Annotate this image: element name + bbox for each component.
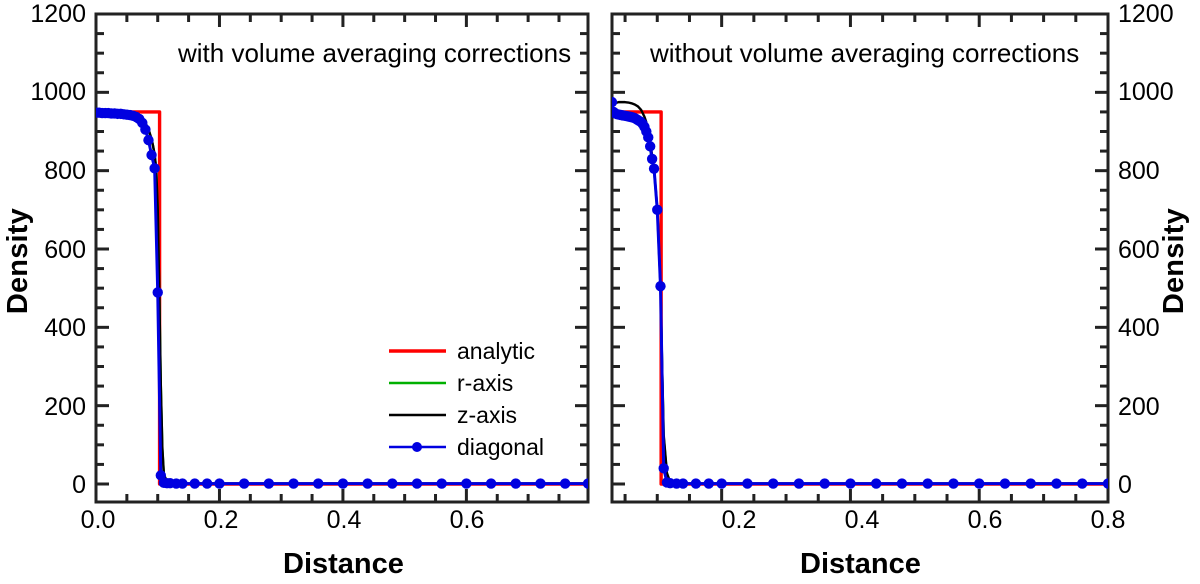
series-line-diagonal (96, 113, 588, 484)
series-marker-diagonal (1051, 478, 1061, 488)
plot-frame-right (612, 14, 1108, 502)
tick-marks-left (96, 14, 588, 502)
series-line-diagonal (612, 102, 1108, 483)
series-marker-diagonal (678, 478, 688, 488)
series-marker-diagonal (486, 478, 496, 488)
series-marker-diagonal (412, 478, 422, 488)
series-marker-diagonal (437, 478, 447, 488)
series-marker-diagonal (149, 163, 159, 173)
series-marker-diagonal (655, 281, 665, 291)
series-line-r-axis (612, 114, 1108, 484)
series-marker-diagonal (1103, 478, 1113, 488)
series-marker-diagonal (511, 478, 521, 488)
series-marker-diagonal (691, 478, 701, 488)
series-marker-diagonal (897, 478, 907, 488)
series-marker-diagonal (923, 478, 933, 488)
series-marker-diagonal (1077, 478, 1087, 488)
series-marker-diagonal (153, 287, 163, 297)
series-line-z-axis (96, 113, 588, 484)
plot-frame-left (96, 14, 588, 502)
series-marker-diagonal (338, 478, 348, 488)
series-marker-diagonal (845, 478, 855, 488)
series-marker-diagonal (794, 478, 804, 488)
series-line-analytic (96, 112, 588, 484)
series-line-r-axis (96, 113, 588, 484)
series-marker-diagonal (535, 478, 545, 488)
series-marker-diagonal (652, 205, 662, 215)
series-marker-diagonal (190, 478, 200, 488)
data-series-right (607, 97, 1113, 489)
series-marker-diagonal (1000, 478, 1010, 488)
series-marker-diagonal (143, 135, 153, 145)
series-marker-diagonal (239, 478, 249, 488)
series-marker-diagonal (649, 164, 659, 174)
series-marker-diagonal (146, 150, 156, 160)
series-marker-diagonal (177, 478, 187, 488)
series-marker-diagonal (607, 97, 617, 107)
plot-canvas (0, 0, 1200, 584)
series-marker-diagonal (461, 478, 471, 488)
legend-marker-diagonal (412, 442, 422, 452)
figure-root: Density Density Distance Distance with v… (0, 0, 1200, 584)
series-marker-diagonal (742, 478, 752, 488)
series-line-analytic (612, 112, 1108, 484)
series-marker-diagonal (659, 463, 669, 473)
series-marker-diagonal (645, 141, 655, 151)
series-marker-diagonal (974, 478, 984, 488)
series-marker-diagonal (583, 478, 593, 488)
series-marker-diagonal (768, 478, 778, 488)
series-marker-diagonal (140, 124, 150, 134)
series-marker-diagonal (214, 478, 224, 488)
series-line-z-axis (612, 102, 1108, 483)
series-marker-diagonal (643, 132, 653, 142)
legend-box (389, 351, 446, 452)
series-marker-diagonal (202, 478, 212, 488)
series-marker-diagonal (288, 478, 298, 488)
series-marker-diagonal (716, 478, 726, 488)
series-marker-diagonal (871, 478, 881, 488)
data-series-left (91, 108, 593, 489)
series-marker-diagonal (313, 478, 323, 488)
series-marker-diagonal (1026, 478, 1036, 488)
series-marker-diagonal (819, 478, 829, 488)
series-marker-diagonal (704, 478, 714, 488)
tick-marks-right (612, 14, 1108, 502)
series-marker-diagonal (387, 478, 397, 488)
series-marker-diagonal (362, 478, 372, 488)
series-marker-diagonal (647, 154, 657, 164)
series-marker-diagonal (264, 478, 274, 488)
series-marker-diagonal (948, 478, 958, 488)
series-marker-diagonal (560, 478, 570, 488)
